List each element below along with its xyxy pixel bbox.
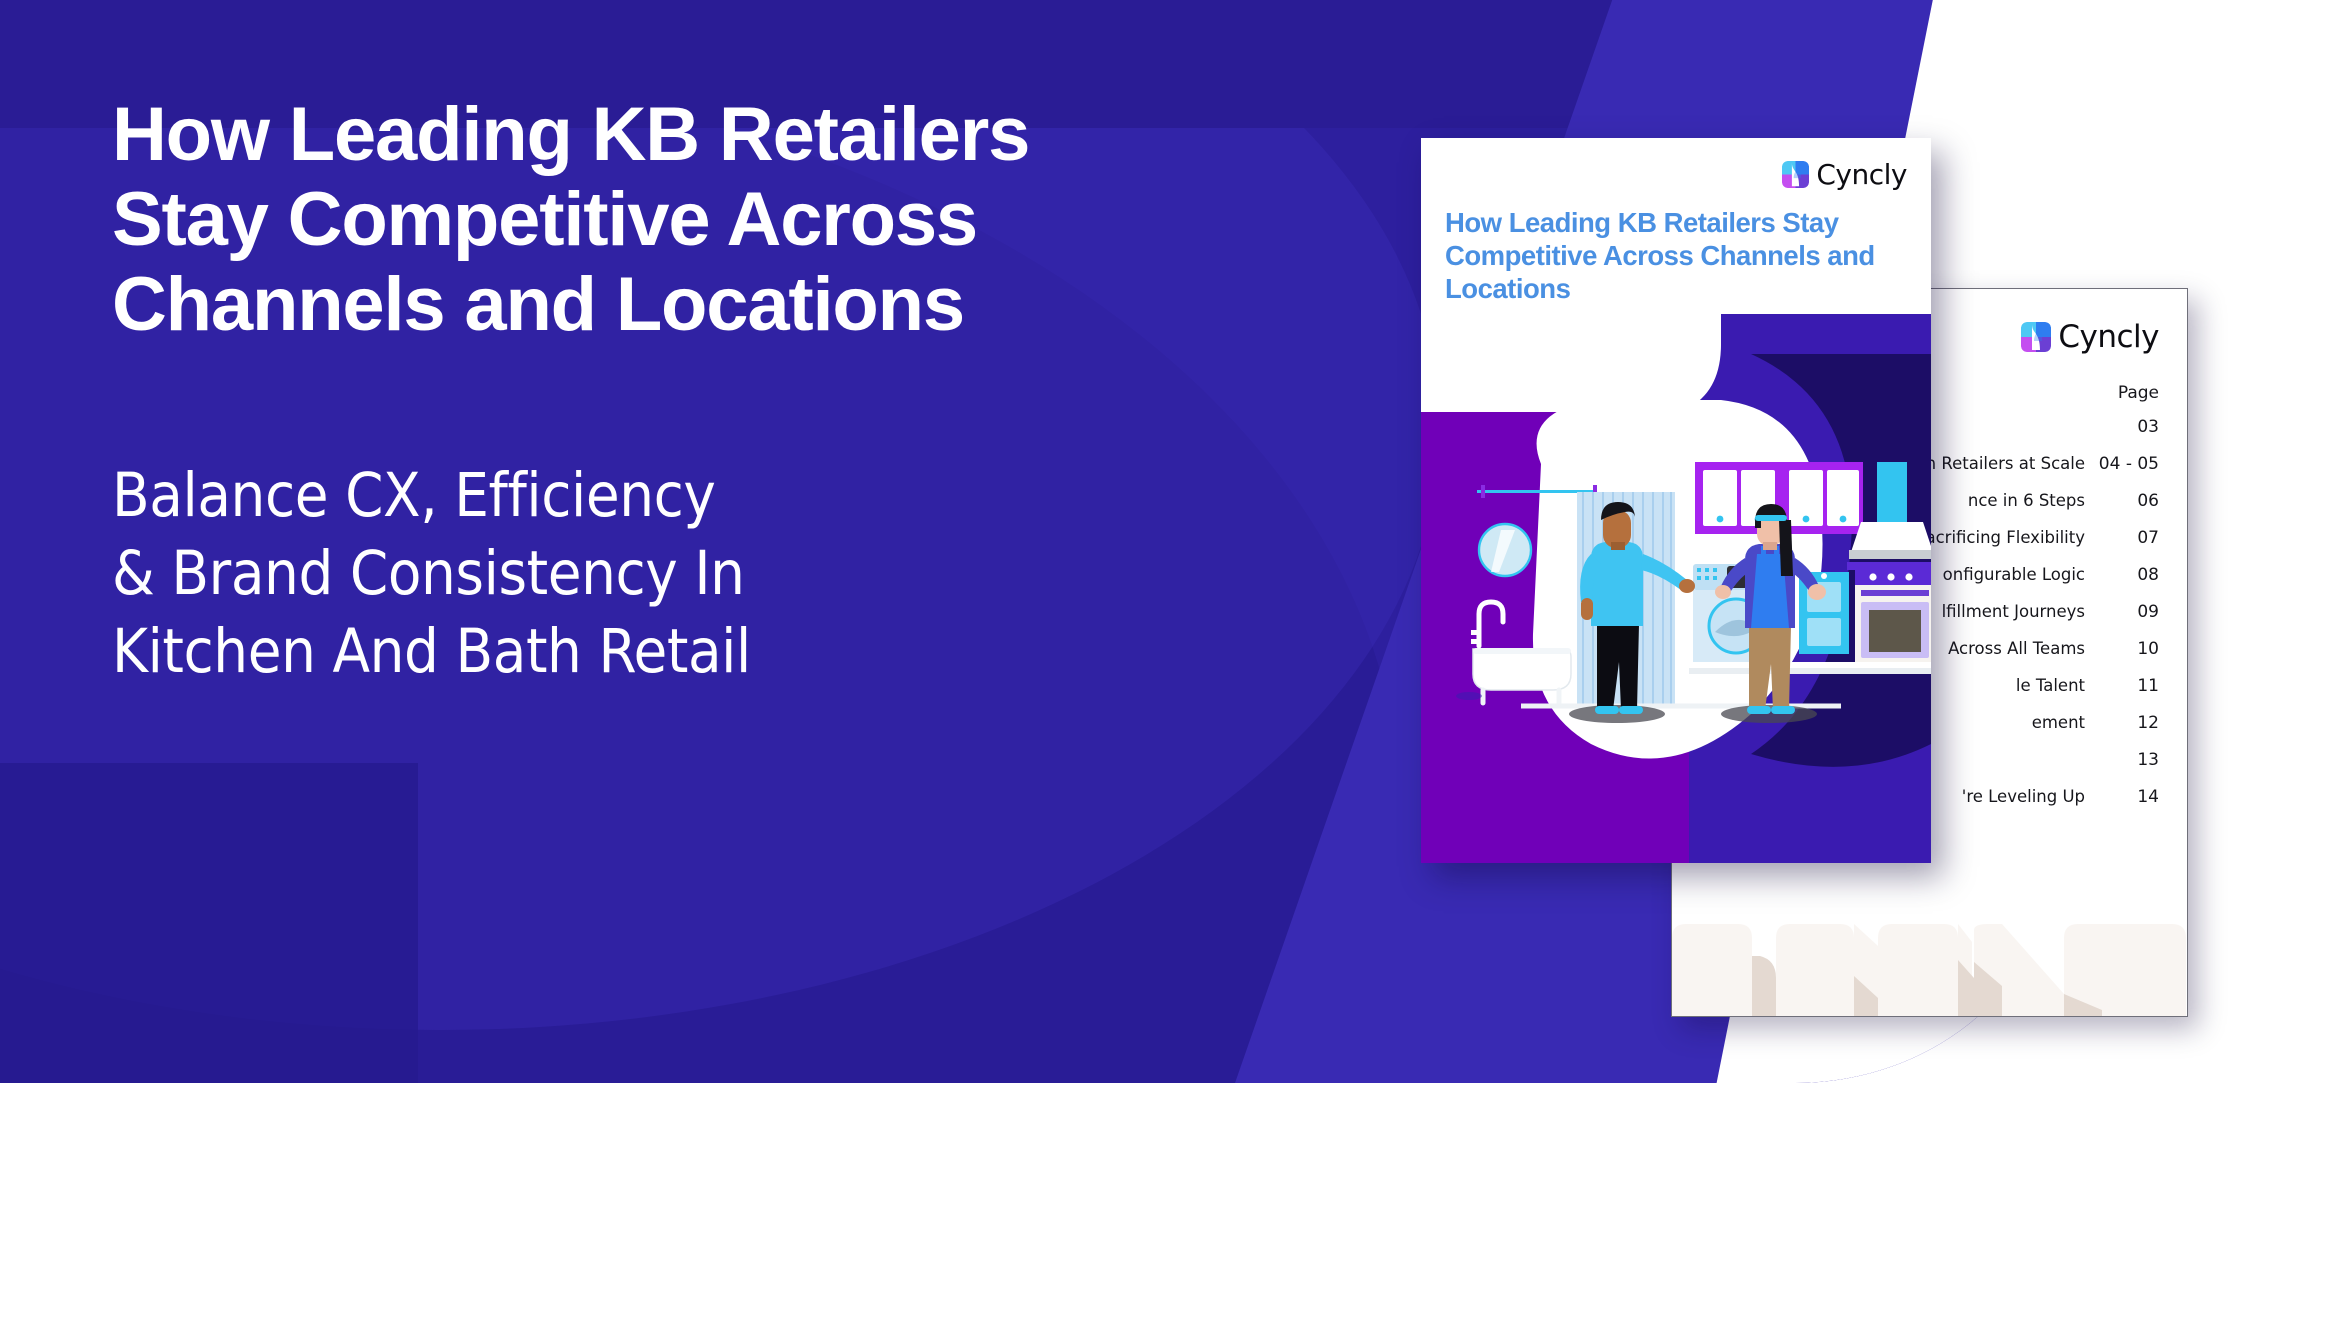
hero-banner: How Leading KB Retailers Stay Competitiv… (0, 0, 2343, 1331)
headline-line-1: How Leading KB Retailers (112, 92, 1342, 177)
cyncly-logo-icon (1782, 161, 1809, 188)
toc-entry-page: 06 (2085, 491, 2159, 511)
toc-page-column-header: Page (2118, 383, 2159, 403)
toc-entry-page: 14 (2085, 787, 2159, 807)
toc-entry-page: 10 (2085, 639, 2159, 659)
toc-entry-title: 're Leveling Up (1962, 787, 2085, 806)
cover-illustration (1421, 314, 1931, 863)
toc-entry-title: lfillment Journeys (1942, 602, 2085, 621)
toc-entry-page: 08 (2085, 565, 2159, 585)
hero-copy: How Leading KB Retailers Stay Competitiv… (112, 92, 1342, 692)
toc-entry-title: Across All Teams (1948, 639, 2085, 658)
page-subtitle: Balance CX, Efficiency & Brand Consisten… (112, 457, 1342, 691)
toc-entry-page: 04 - 05 (2085, 454, 2159, 474)
toc-entry-page: 13 (2085, 750, 2159, 770)
toc-decorative-pattern (1672, 916, 2187, 1016)
ebook-cover-preview[interactable]: Cyncly How Leading KB Retailers Stay Com… (1421, 138, 1931, 863)
page-title: How Leading KB Retailers Stay Competitiv… (112, 92, 1342, 347)
toc-entry-page: 07 (2085, 528, 2159, 548)
toc-entry-title: ement (2032, 713, 2085, 732)
toc-entry-page: 03 (2085, 417, 2159, 437)
toc-entry-page: 11 (2085, 676, 2159, 696)
subhead-line-3: Kitchen And Bath Retail (112, 613, 1342, 691)
cover-title: How Leading KB Retailers Stay Competitiv… (1445, 206, 1893, 305)
cyncly-wordmark: Cyncly (1816, 158, 1907, 191)
cover-brand-logo: Cyncly (1782, 158, 1907, 191)
cyncly-logo-icon (2021, 322, 2051, 352)
headline-line-2: Stay Competitive Across (112, 177, 1342, 262)
headline-line-3: Channels and Locations (112, 262, 1342, 347)
toc-entry-title: onfigurable Logic (1943, 565, 2085, 584)
toc-brand-logo: Cyncly (2021, 319, 2159, 355)
background-left-strip (0, 763, 418, 1083)
toc-entry-title: nce in 6 Steps (1968, 491, 2085, 510)
subhead-line-1: Balance CX, Efficiency (112, 457, 1342, 535)
toc-entry-title: ath Retailers at Scale (1909, 454, 2085, 473)
toc-entry-title: Sacrificing Flexibility (1915, 528, 2085, 547)
toc-entry-page: 09 (2085, 602, 2159, 622)
toc-entry-page: 12 (2085, 713, 2159, 733)
toc-entry-title: le Talent (2016, 676, 2085, 695)
cyncly-wordmark: Cyncly (2058, 319, 2159, 355)
subhead-line-2: & Brand Consistency In (112, 535, 1342, 613)
